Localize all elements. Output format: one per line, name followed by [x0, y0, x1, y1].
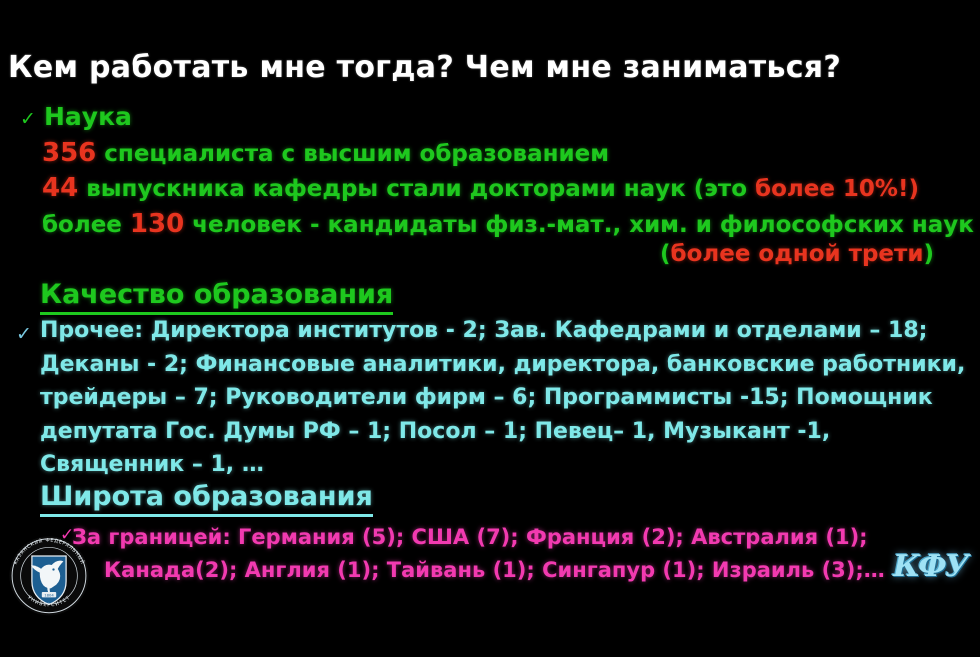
science-line-4: (более одной трети)	[660, 241, 934, 267]
science-line-1: 356 специалиста с высшим образованием	[42, 138, 609, 168]
kfu-wordmark-logo: КФУ	[893, 549, 971, 595]
quality-line-5: Священник – 1, …	[40, 452, 264, 477]
science-line-3: более 130 человек - кандидаты физ.-мат.,…	[42, 209, 974, 239]
science-line-2-highlight: более 10%!)	[755, 176, 919, 202]
page-title: Кем работать мне тогда? Чем мне занимать…	[8, 50, 968, 85]
checkmark-icon-prochee: ✓	[16, 325, 32, 344]
science-line-4-open-paren: (	[660, 241, 671, 267]
quality-line-3: трейдеры – 7; Руководители фирм – 6; Про…	[40, 385, 933, 410]
science-line-4-text: более одной трети	[671, 241, 924, 267]
breadth-line-2: Канада(2); Англия (1); Тайвань (1); Синг…	[104, 558, 885, 582]
quality-line-4: депутата Гос. Думы РФ – 1; Посол – 1; Пе…	[40, 419, 830, 444]
breadth-section-heading: Широта образования	[40, 481, 373, 517]
kfu-wordmark-text: КФУ	[893, 549, 967, 584]
science-line-3-prefix: более	[42, 212, 130, 238]
science-line-1-text: специалиста с высшим образованием	[96, 141, 609, 167]
science-section-label: Наука	[44, 102, 132, 131]
science-line-2-number: 44	[42, 173, 78, 203]
science-line-2-text: выпускника кафедры стали докторами наук …	[78, 176, 755, 202]
quality-line-2: Деканы - 2; Финансовые аналитики, директ…	[40, 352, 965, 377]
science-line-2: 44 выпускника кафедры стали докторами на…	[42, 173, 919, 203]
svg-text:1804: 1804	[44, 594, 54, 598]
science-line-1-number: 356	[42, 138, 96, 168]
science-line-3-number: 130	[130, 209, 184, 239]
checkmark-icon-nauka: ✓	[20, 110, 36, 129]
science-line-3-text: человек - кандидаты физ.-мат., хим. и фи…	[184, 212, 974, 238]
kfu-seal-logo: 1804 КАЗАНСКИЙ ФЕДЕРАЛЬНЫЙ УНИВЕРСИТЕТ	[4, 528, 94, 620]
slide-canvas: Кем работать мне тогда? Чем мне занимать…	[0, 0, 980, 657]
science-line-4-close-paren: )	[923, 241, 934, 267]
breadth-line-1: За границей: Германия (5); США (7); Фран…	[72, 525, 868, 549]
quality-section-heading: Качество образования	[40, 279, 393, 315]
quality-line-1: Прочее: Директора институтов - 2; Зав. К…	[40, 318, 927, 343]
